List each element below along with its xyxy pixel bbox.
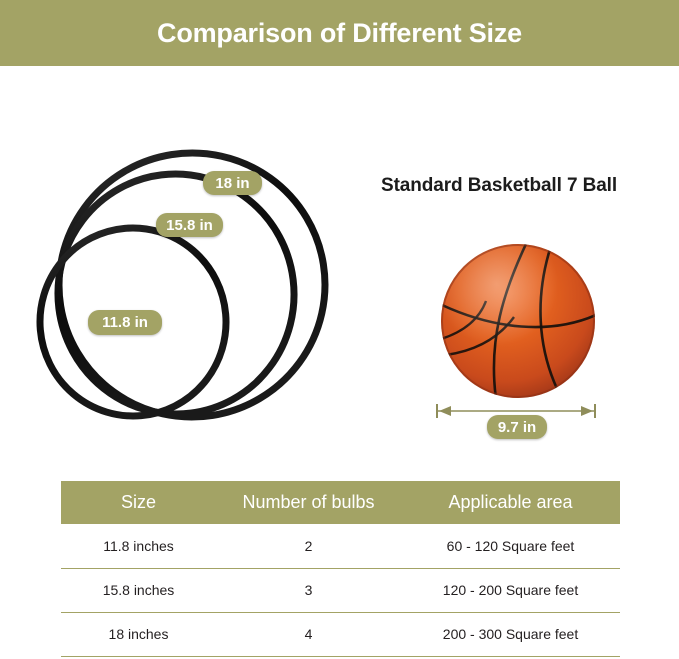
table-row: 18 inches 4 200 - 300 Square feet [61,612,620,656]
comparison-infographic: Comparison of Different Size 18 in 15.8 … [0,0,679,659]
basketball-svg [440,243,596,399]
ring-badge-18in: 18 in [203,171,262,195]
basketball-title: Standard Basketball 7 Ball [381,175,617,197]
ring-badge-15in: 15.8 in [156,213,223,237]
table-body: 11.8 inches 2 60 - 120 Square feet 15.8 … [61,524,620,656]
cell-bulbs: 2 [216,524,401,568]
table-header-row: Size Number of bulbs Applicable area [61,481,620,524]
cell-area: 60 - 120 Square feet [401,524,620,568]
column-header-size: Size [61,481,216,524]
cell-area: 200 - 300 Square feet [401,612,620,656]
comparison-table: Size Number of bulbs Applicable area 11.… [61,481,620,657]
cell-size: 11.8 inches [61,524,216,568]
table-row: 11.8 inches 2 60 - 120 Square feet [61,524,620,568]
column-header-bulbs: Number of bulbs [216,481,401,524]
table-header: Size Number of bulbs Applicable area [61,481,620,524]
cell-size: 18 inches [61,612,216,656]
table-row: 15.8 inches 3 120 - 200 Square feet [61,568,620,612]
ring-badge-11in: 11.8 in [88,310,162,335]
basketball-dimension-badge: 9.7 in [487,415,547,439]
ring-15in [44,161,307,428]
cell-bulbs: 4 [216,612,401,656]
rings-illustration: 18 in 15.8 in 11.8 in [0,0,360,470]
cell-bulbs: 3 [216,568,401,612]
basketball-illustration [440,243,596,399]
column-header-area: Applicable area [401,481,620,524]
cell-size: 15.8 inches [61,568,216,612]
cell-area: 120 - 200 Square feet [401,568,620,612]
